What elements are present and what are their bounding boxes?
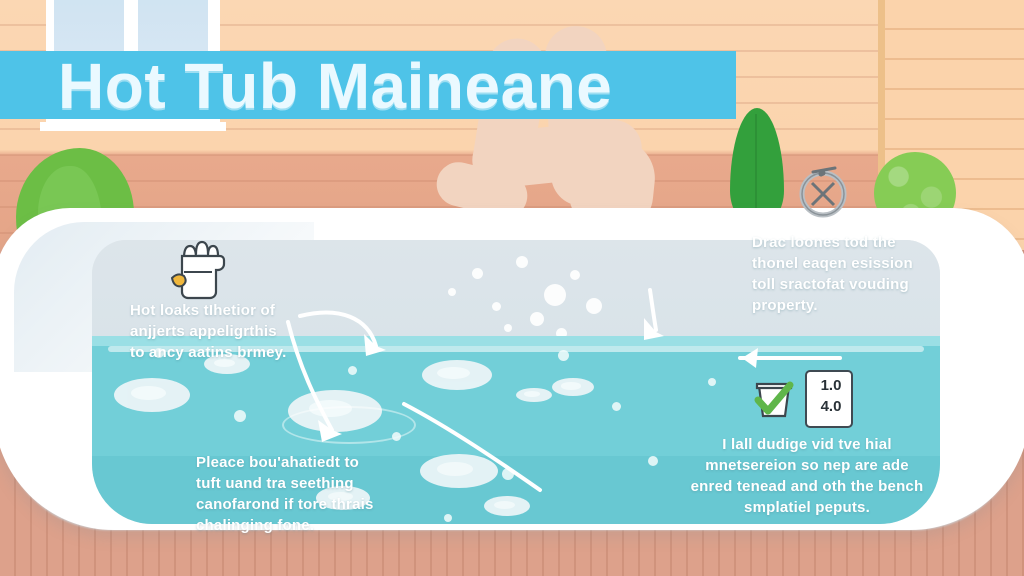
foam-disc (422, 360, 492, 390)
note-bottom-right: I lall dudige vid tve hial mnetsereion s… (672, 434, 942, 518)
bubble (448, 288, 456, 296)
note-line: toll sractofat vouding (752, 274, 942, 295)
bubble (472, 268, 483, 279)
note-line: to ancy aatins brmey. (130, 342, 320, 363)
note-top-left: Hot loaks tIhetior of anjjerts appeligrt… (130, 300, 320, 363)
bubble (504, 324, 512, 332)
dosage-value-1: 1.0 (814, 376, 848, 396)
foam-disc (484, 496, 530, 516)
cleaning-glove-icon (170, 238, 232, 304)
bubble (612, 402, 621, 411)
note-line: tuft uand tra seething (196, 473, 396, 494)
chemical-dosage-card-icon: 1.0 4.0 (805, 370, 857, 426)
bubble (492, 302, 501, 311)
note-line: thonel eaqen esission (752, 253, 942, 274)
note-line: anjjerts appeligrthis (130, 321, 320, 342)
note-line: canofarond if tore thrais (196, 494, 396, 515)
note-line: Hot loaks tIhetior of (130, 300, 320, 321)
note-line: chalinging fone. (196, 515, 396, 536)
bubble (392, 432, 401, 441)
bubble (516, 256, 528, 268)
bubble (570, 270, 580, 280)
note-line: property. (752, 295, 942, 316)
bubble (544, 284, 566, 306)
bucket-check-icon (752, 378, 798, 420)
foam-disc (516, 388, 552, 402)
note-line: I lall dudige vid tve hial (672, 434, 942, 455)
bubble (530, 312, 544, 326)
bubble (234, 410, 246, 422)
note-line: mnetsereion so nep are ade (672, 455, 942, 476)
bubble (502, 468, 514, 480)
pressure-gauge-icon (795, 160, 851, 218)
infographic-canvas: Hot Tub Maineane (0, 0, 1024, 576)
note-bottom-left: Pleace bou'ahatiedt to tuft uand tra see… (196, 452, 396, 536)
note-line: smplatiel peputs. (672, 497, 942, 518)
bubble (558, 350, 569, 361)
note-line: enred tenead and oth the bench (672, 476, 942, 497)
dosage-card-front-sheet: 1.0 4.0 (805, 370, 853, 428)
foam-disc (552, 378, 594, 396)
page-title: Hot Tub Maineane (58, 47, 1024, 125)
note-line: Pleace bou'ahatiedt to (196, 452, 396, 473)
note-line: Drac loones tod the (752, 232, 942, 253)
bubble (586, 298, 602, 314)
bubble (708, 378, 716, 386)
bubble (444, 514, 452, 522)
bubble (348, 366, 357, 375)
bubble (648, 456, 658, 466)
dosage-value-2: 4.0 (814, 397, 848, 417)
note-top-right: Drac loones tod the thonel eaqen esissio… (752, 232, 942, 316)
foam-disc (420, 454, 498, 488)
foam-disc (114, 378, 190, 412)
